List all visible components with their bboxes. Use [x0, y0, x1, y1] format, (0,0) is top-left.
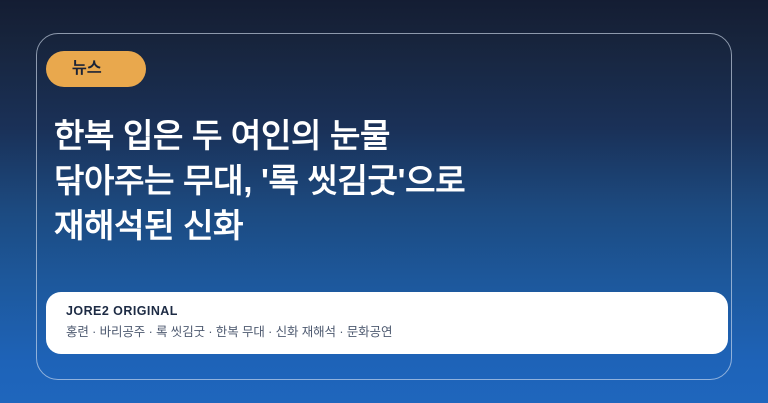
hero-banner: 뉴스 한복 입은 두 여인의 눈물 닦아주는 무대, '록 씻김굿'으로 재해석…: [0, 0, 768, 403]
headline-line-2: 닦아주는 무대, '록 씻김굿'으로: [54, 158, 694, 203]
headline: 한복 입은 두 여인의 눈물 닦아주는 무대, '록 씻김굿'으로 재해석된 신…: [54, 113, 694, 248]
meta-card[interactable]: JORE2 ORIGINAL 홍련 · 바리공주 · 록 씻김굿 · 한복 무대…: [46, 292, 728, 354]
brand-label: JORE2 ORIGINAL: [66, 303, 708, 319]
headline-line-3: 재해석된 신화: [54, 203, 694, 248]
category-badge[interactable]: 뉴스: [46, 51, 146, 87]
tag-list: 홍련 · 바리공주 · 록 씻김굿 · 한복 무대 · 신화 재해석 · 문화공…: [66, 323, 708, 341]
category-badge-label: 뉴스: [72, 61, 102, 77]
headline-line-1: 한복 입은 두 여인의 눈물: [54, 113, 694, 158]
